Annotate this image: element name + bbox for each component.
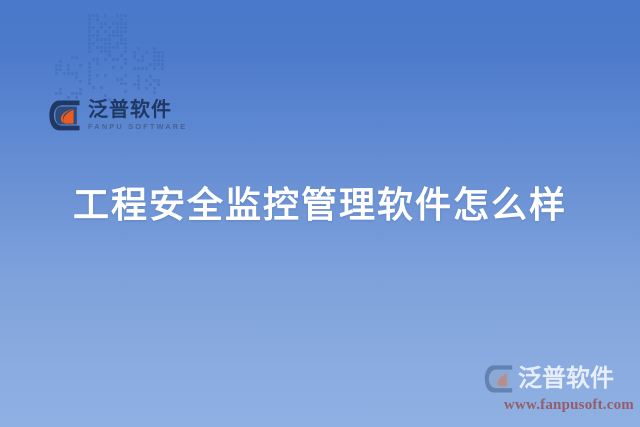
watermark-name-cn: 泛普软件 (518, 367, 614, 391)
pixel-skyline-icon (55, 14, 170, 110)
watermark-fanpu-hexagon-swoosh-logo-icon (484, 364, 514, 394)
brand-name-cn: 泛普软件 (88, 100, 187, 120)
watermark: 泛普软件 www.fanpusoft.com (484, 362, 634, 418)
watermark-url: www.fanpusoft.com (484, 397, 634, 414)
watermark-logo-row: 泛普软件 (484, 362, 634, 396)
brand-wordmark: 泛普软件 FANPU SOFTWARE (88, 100, 187, 131)
brand-logo: 泛普软件 FANPU SOFTWARE (49, 99, 187, 132)
fanpu-hexagon-swoosh-logo-icon (49, 99, 81, 132)
brand-name-en: FANPU SOFTWARE (88, 123, 187, 131)
page-title: 工程安全监控管理软件怎么样 (0, 183, 640, 227)
promo-banner: 泛普软件 FANPU SOFTWARE 工程安全监控管理软件怎么样 泛普软件 w… (0, 0, 640, 427)
